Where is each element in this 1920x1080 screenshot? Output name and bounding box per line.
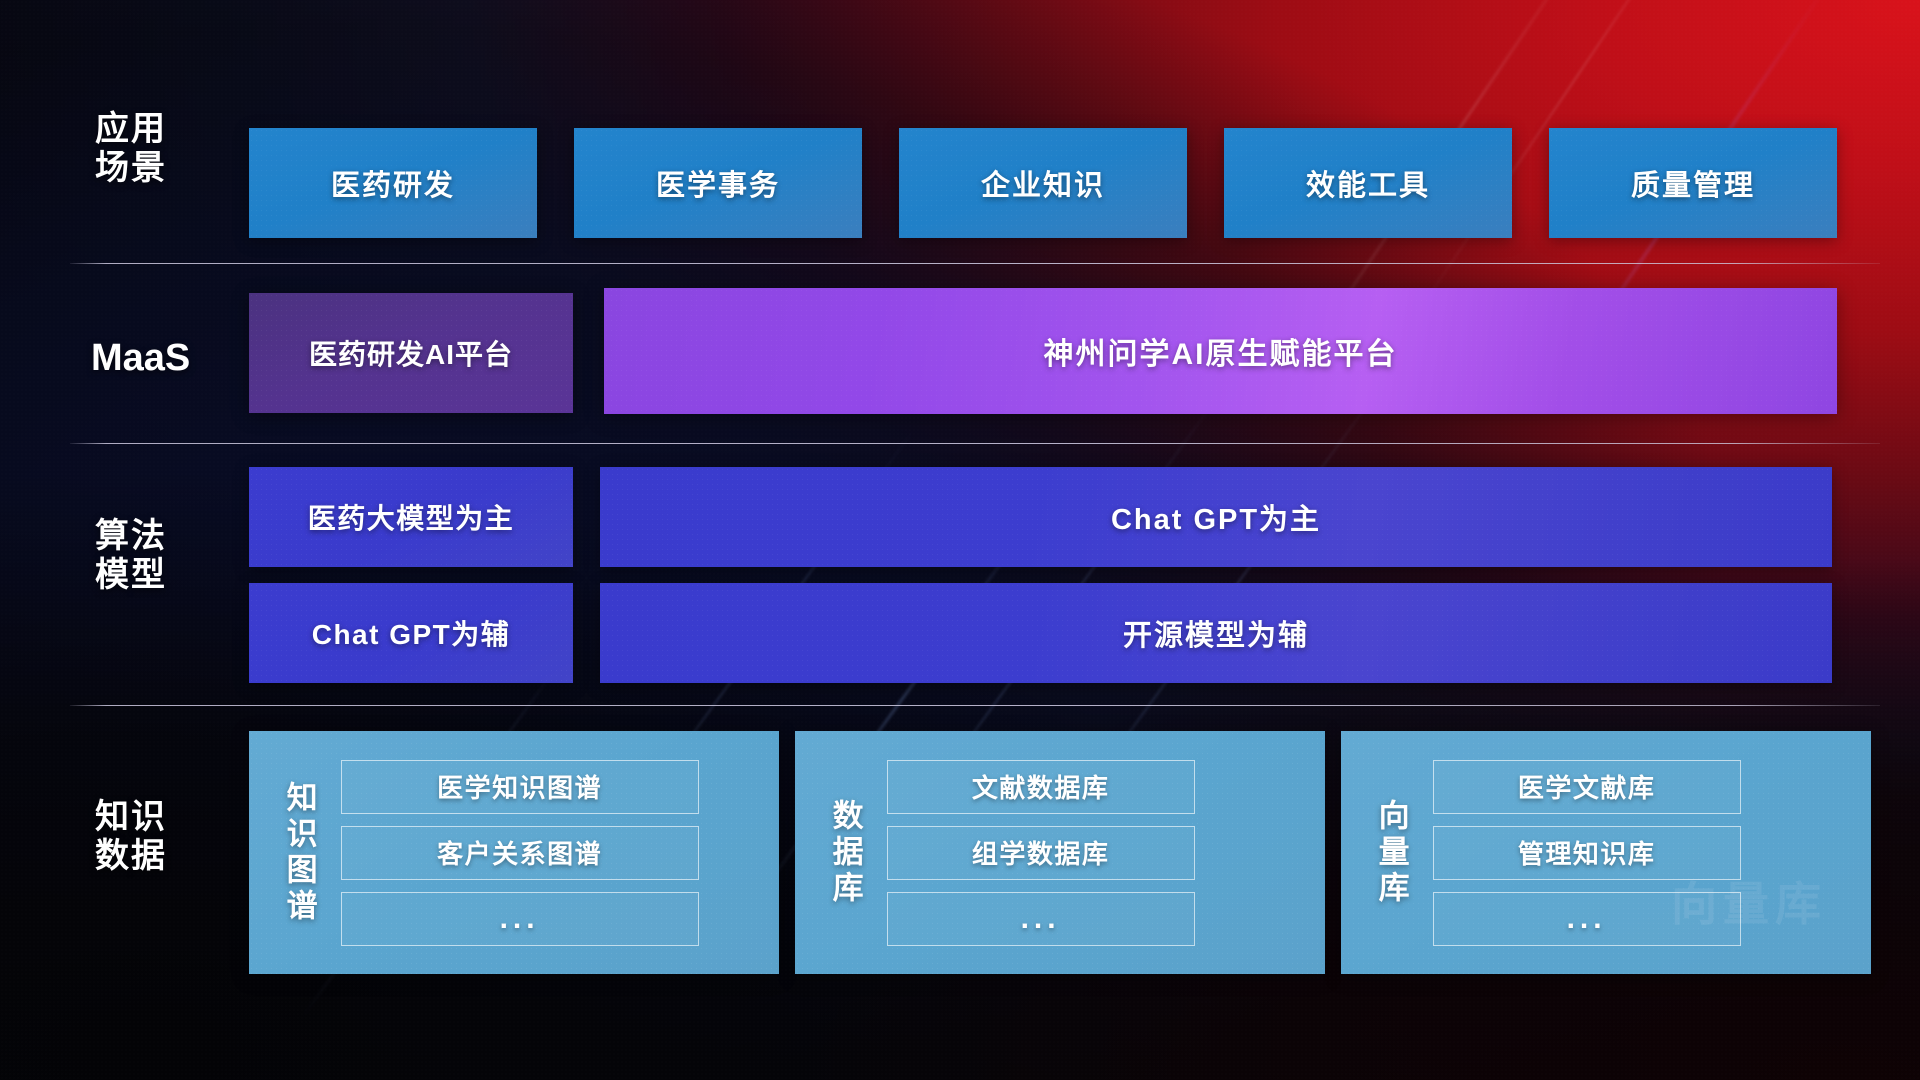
row-label-line: 算法 [95,517,255,556]
knowledge-group-database[interactable]: 数据库 文献数据库 组学数据库 ... [795,731,1325,974]
knowledge-item[interactable]: 管理知识库 [1433,826,1741,880]
row-label-knowledge-data: 知识 数据 [95,798,255,877]
maas-card-shenzhou-wenxue-platform[interactable]: 神州问学AI原生赋能平台 [604,288,1837,414]
scenario-card-label: 医学事务 [656,162,780,204]
knowledge-group-title: 向量库 [1375,799,1407,907]
row-divider-2 [70,443,1880,444]
algo-card-label: Chat GPT为辅 [312,613,511,653]
row-label-algorithm-model: 算法 模型 [95,517,255,596]
knowledge-item-label: ... [500,902,540,936]
knowledge-item[interactable]: 组学数据库 [887,826,1195,880]
knowledge-item-label: ... [1021,902,1061,936]
knowledge-item-label: 组学数据库 [972,834,1110,871]
scenario-card-medical-affairs[interactable]: 医学事务 [574,128,862,238]
algo-card-chatgpt-secondary[interactable]: Chat GPT为辅 [249,583,573,683]
algo-card-label: 医药大模型为主 [308,497,515,537]
maas-card-label: 神州问学AI原生赋能平台 [1044,329,1398,373]
knowledge-item-more[interactable]: ... [1433,892,1741,946]
algo-card-label: Chat GPT为主 [1111,496,1321,538]
knowledge-item-label: 医学知识图谱 [437,768,602,805]
knowledge-item[interactable]: 医学文献库 [1433,760,1741,814]
architecture-diagram: 应用 场景 医药研发 医学事务 企业知识 效能工具 质量管理 MaaS 医药研发… [0,0,1920,1080]
knowledge-group-knowledge-graph[interactable]: 知识图谱 医学知识图谱 客户关系图谱 ... [249,731,779,974]
knowledge-item-label: 客户关系图谱 [437,834,602,871]
row-label-line: 模型 [95,556,255,595]
algo-card-opensource-secondary[interactable]: 开源模型为辅 [600,583,1832,683]
knowledge-item[interactable]: 医学知识图谱 [341,760,699,814]
knowledge-item-more[interactable]: ... [341,892,699,946]
scenario-card-label: 企业知识 [981,162,1105,204]
knowledge-item-more[interactable]: ... [887,892,1195,946]
knowledge-item-label: 文献数据库 [972,768,1110,805]
knowledge-item-list: 医学文献库 管理知识库 ... [1433,760,1741,946]
scenario-card-label: 医药研发 [331,162,455,204]
maas-card-label: 医药研发AI平台 [309,333,513,373]
row-divider-3 [70,705,1880,706]
row-divider-1 [70,263,1880,264]
row-label-line: 应用 [95,110,245,149]
scenario-card-label: 质量管理 [1631,162,1755,204]
scenario-card-quality-management[interactable]: 质量管理 [1549,128,1837,238]
maas-card-pharma-ai-platform[interactable]: 医药研发AI平台 [249,293,573,413]
scenario-card-efficiency-tools[interactable]: 效能工具 [1224,128,1512,238]
algo-card-pharma-llm-primary[interactable]: 医药大模型为主 [249,467,573,567]
row-label-application-scenario: 应用 场景 [95,110,245,189]
knowledge-item-list: 医学知识图谱 客户关系图谱 ... [341,760,699,946]
knowledge-group-title: 知识图谱 [283,781,315,925]
knowledge-group-vector-database[interactable]: 向量库 向量库 医学文献库 管理知识库 ... [1341,731,1871,974]
knowledge-item-list: 文献数据库 组学数据库 ... [887,760,1195,946]
knowledge-item-label: 医学文献库 [1518,768,1656,805]
knowledge-item-label: 管理知识库 [1518,834,1656,871]
knowledge-item[interactable]: 客户关系图谱 [341,826,699,880]
algo-card-chatgpt-primary[interactable]: Chat GPT为主 [600,467,1832,567]
row-label-line: 数据 [95,837,255,876]
knowledge-item[interactable]: 文献数据库 [887,760,1195,814]
scenario-card-label: 效能工具 [1306,162,1430,204]
row-label-line: 知识 [95,798,255,837]
knowledge-group-title: 数据库 [829,799,861,907]
knowledge-item-label: ... [1567,902,1607,936]
algo-card-label: 开源模型为辅 [1123,612,1309,654]
row-label-line: 场景 [95,149,245,188]
scenario-card-enterprise-knowledge[interactable]: 企业知识 [899,128,1187,238]
scenario-card-pharma-rd[interactable]: 医药研发 [249,128,537,238]
